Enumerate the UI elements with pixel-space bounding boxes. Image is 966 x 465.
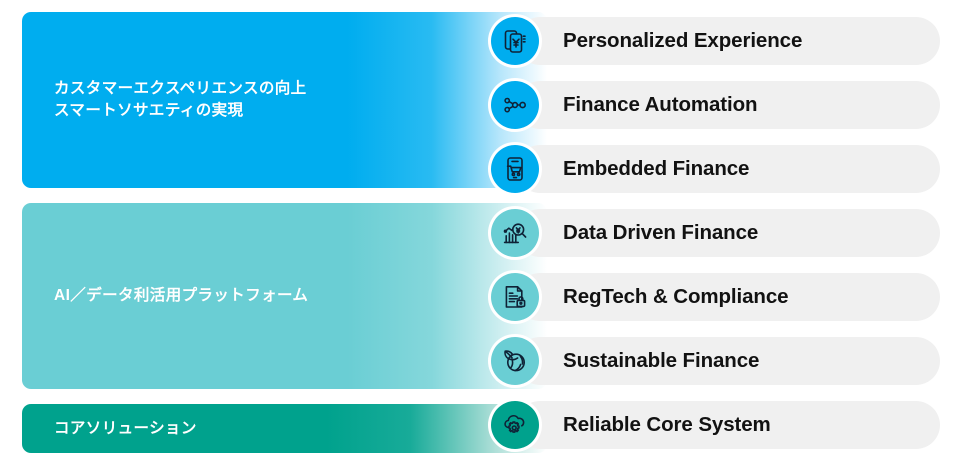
category-panel-ai[interactable]: AI／データ利活用プラットフォーム [22,203,547,389]
workflow-nodes-icon [491,81,539,129]
solution-row-sustainable-finance[interactable]: Sustainable Finance [491,337,940,385]
solution-row-finance-automation[interactable]: Finance Automation [491,81,940,129]
solution-row-label: Sustainable Finance [563,349,759,373]
solution-row-label: Data Driven Finance [563,221,758,245]
chart-magnifier-icon [491,209,539,257]
category-panel-core-label: コアソリューション [22,418,197,440]
solution-row-personalized-experience[interactable]: Personalized Experience [491,17,940,65]
solution-row-label: Personalized Experience [563,29,802,53]
solution-map-diagram: カスタマーエクスペリエンスの向上 スマートソサエティの実現 AI／データ利活用プ… [0,0,966,465]
solution-row-label: Finance Automation [563,93,757,117]
category-panel-ai-label: AI／データ利活用プラットフォーム [22,285,308,307]
solution-row-label: Embedded Finance [563,157,749,181]
category-panel-core[interactable]: コアソリューション [22,404,547,453]
solution-row-label: Reliable Core System [563,413,771,437]
solution-row-label: RegTech & Compliance [563,285,788,309]
mobile-payment-icon [491,17,539,65]
category-panel-cx-label: カスタマーエクスペリエンスの向上 スマートソサエティの実現 [22,78,307,122]
document-lock-icon [491,273,539,321]
category-panel-cx[interactable]: カスタマーエクスペリエンスの向上 スマートソサエティの実現 [22,12,547,188]
solution-row-reliable-core-system[interactable]: Reliable Core System [491,401,940,449]
solution-row-embedded-finance[interactable]: Embedded Finance [491,145,940,193]
globe-leaf-icon [491,337,539,385]
solution-row-regtech-compliance[interactable]: RegTech & Compliance [491,273,940,321]
mobile-cart-icon [491,145,539,193]
solution-row-data-driven-finance[interactable]: Data Driven Finance [491,209,940,257]
cloud-gear-icon [491,401,539,449]
